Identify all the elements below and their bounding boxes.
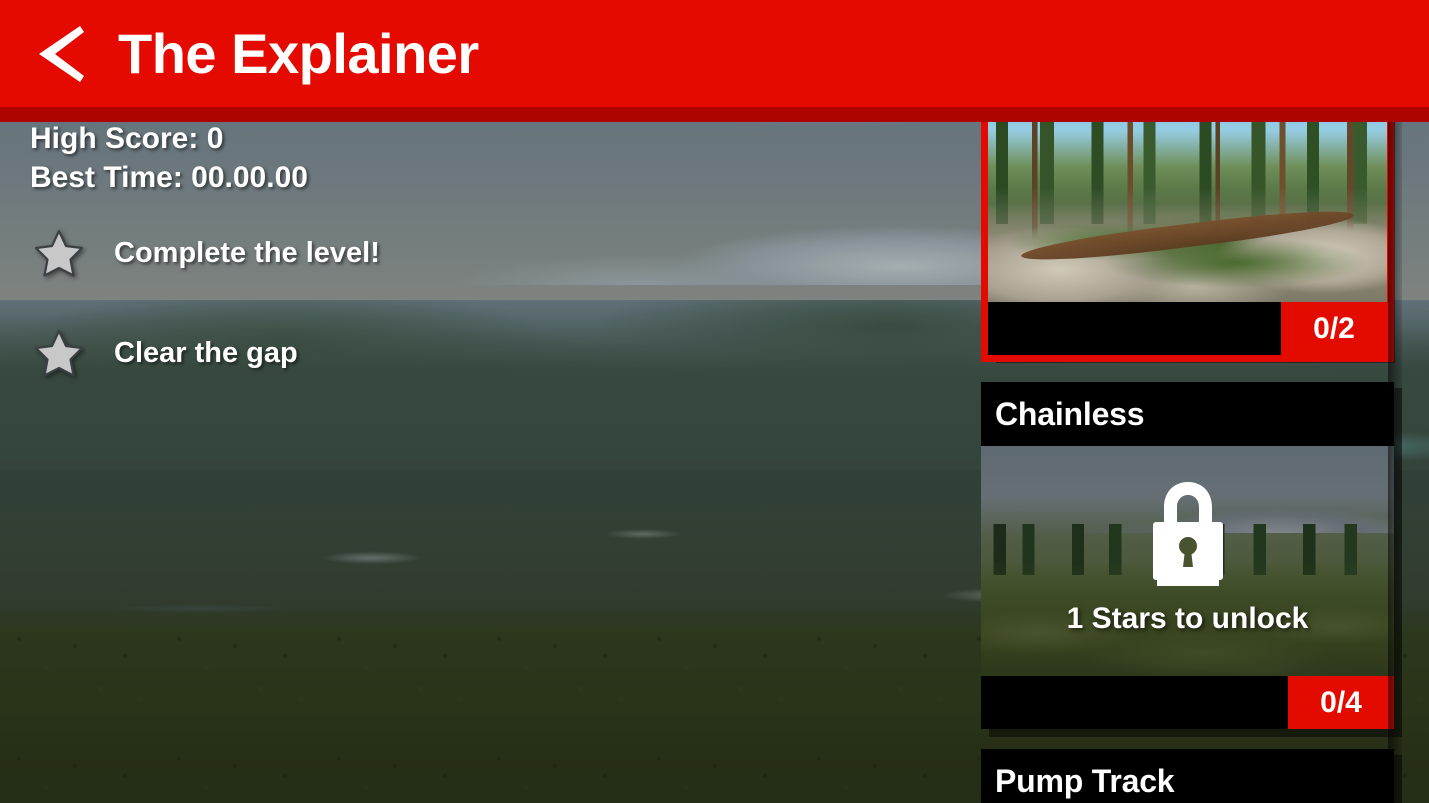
back-button[interactable] [0, 0, 118, 107]
lock-icon [1149, 486, 1227, 588]
high-score-label: High Score: 0 [30, 122, 380, 155]
star-icon [34, 229, 84, 277]
card-footer: 0/2 [988, 302, 1387, 355]
card-title: Chainless [995, 398, 1144, 430]
objectives-list: Complete the level! Clear the gap [30, 222, 380, 384]
forest-trail-thumbnail [988, 97, 1387, 302]
card-title: Pump Track [995, 765, 1174, 797]
meadow-mountain-thumbnail: 1 Stars to unlock [981, 446, 1394, 676]
header-underline [0, 107, 1429, 122]
level-card-pump-track[interactable]: Pump Track [981, 749, 1394, 803]
star-icon [34, 329, 84, 377]
card-title-bar: Pump Track [981, 749, 1394, 803]
header-bar: The Explainer [0, 0, 1429, 107]
objective-label: Complete the level! [114, 237, 380, 270]
chevron-left-icon [33, 23, 85, 85]
objective-label: Clear the gap [114, 337, 298, 370]
objective-row: Clear the gap [30, 322, 380, 384]
level-card-chainless[interactable]: Chainless [981, 382, 1394, 729]
lock-overlay: 1 Stars to unlock [981, 446, 1394, 676]
card-title-bar: Chainless [981, 382, 1394, 446]
unlock-requirement-text: 1 Stars to unlock [1067, 602, 1309, 636]
card-footer: 0/4 [981, 676, 1394, 729]
star-count-badge: 0/2 [1281, 302, 1387, 355]
level-select-screen: The Explainer High Score: 0 Best Time: 0… [0, 0, 1429, 803]
page-title: The Explainer [118, 26, 479, 82]
star-count-badge: 0/4 [1288, 676, 1394, 729]
level-info-panel: High Score: 0 Best Time: 00.00.00 Comple… [30, 122, 380, 422]
objective-row: Complete the level! [30, 222, 380, 284]
best-time-label: Best Time: 00.00.00 [30, 161, 380, 194]
